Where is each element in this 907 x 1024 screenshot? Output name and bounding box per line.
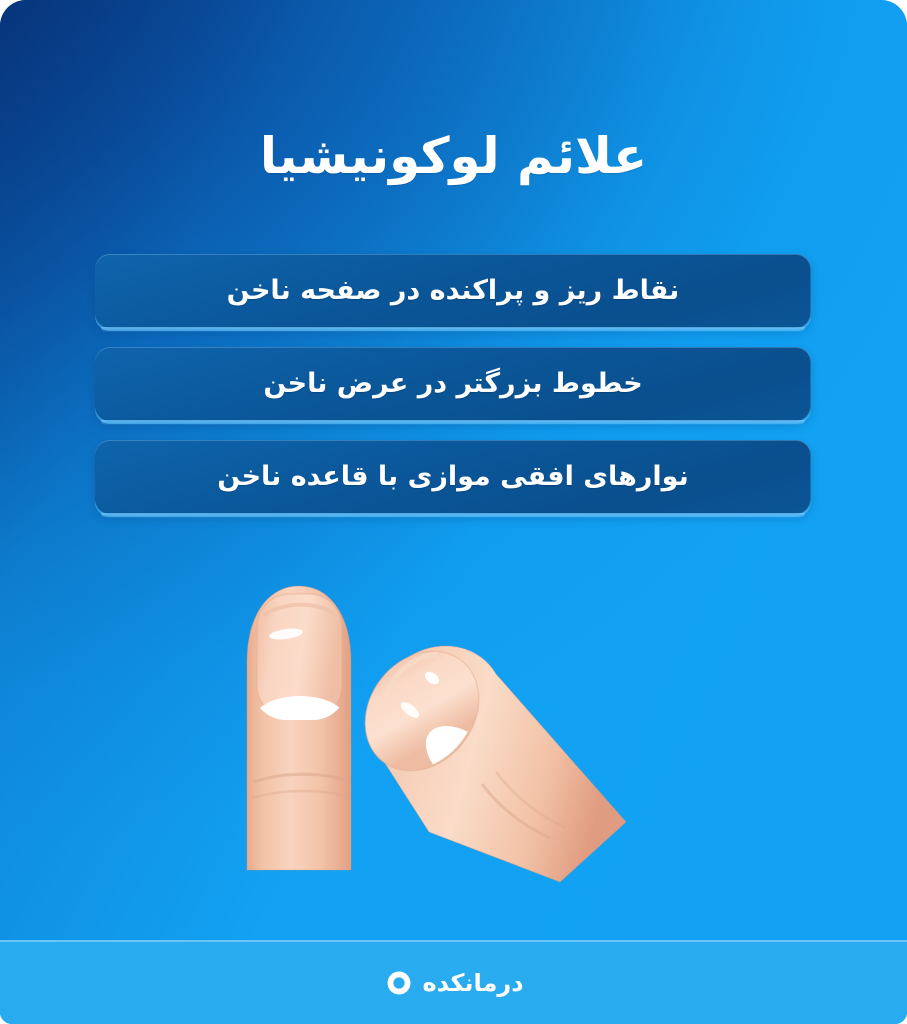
symptom-item-label: خطوط بزرگتر در عرض ناخن	[241, 367, 664, 401]
page-title: علائم لوکونیشیا	[0, 127, 907, 186]
brand-logo[interactable]: درمانکده	[384, 968, 524, 998]
symptom-item-2[interactable]: خطوط بزرگتر در عرض ناخن	[95, 347, 811, 421]
nails-illustration	[0, 570, 907, 900]
finger-right	[341, 629, 625, 882]
symptom-item-label: نقاط ریز و پراکنده در صفحه ناخن	[205, 274, 702, 308]
infographic-poster: علائم لوکونیشیا نقاط ریز و پراکنده در صف…	[0, 0, 907, 1024]
symptom-list: نقاط ریز و پراکنده در صفحه ناخن خطوط بزر…	[95, 254, 811, 514]
title-block: علائم لوکونیشیا	[0, 127, 907, 186]
finger-left	[247, 586, 351, 870]
brand-name: درمانکده	[423, 971, 524, 995]
symptom-item-1[interactable]: نقاط ریز و پراکنده در صفحه ناخن	[95, 254, 811, 328]
split-ring-logo-icon	[384, 968, 414, 998]
symptom-item-3[interactable]: نوارهای افقی موازی با قاعده ناخن	[95, 440, 811, 514]
footer-bar: درمانکده	[0, 940, 907, 1024]
symptom-item-label: نوارهای افقی موازی با قاعده ناخن	[195, 460, 710, 494]
fingers-svg	[224, 570, 684, 900]
